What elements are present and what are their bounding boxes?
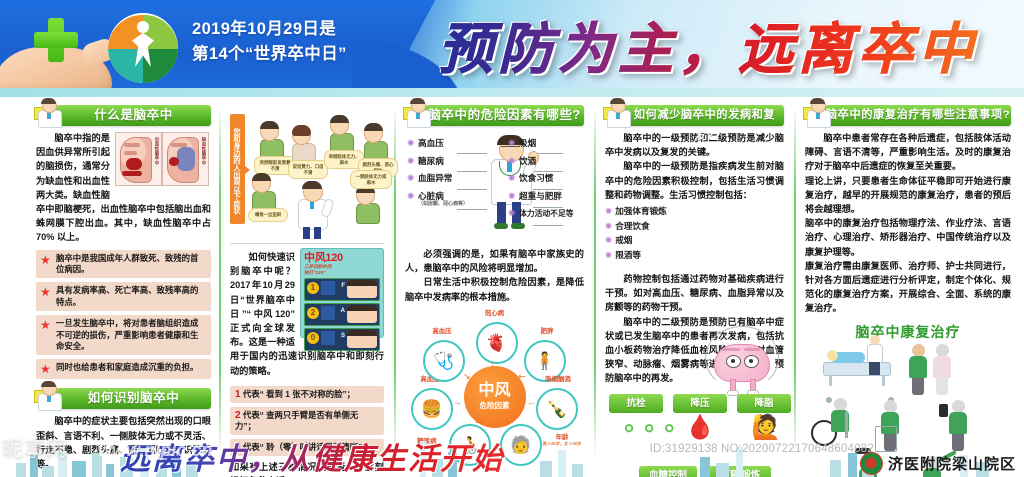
risk-factor-label: 饮酒 — [519, 156, 536, 166]
arrow-icon: ↓ — [491, 360, 496, 369]
hospital-emblem-icon — [860, 452, 883, 475]
vertical-tag-label: 您和身边的人出现以下症状 — [230, 114, 245, 224]
radial-node-hypertension: 🩺 — [423, 340, 465, 382]
flower-bullet-icon: ✺ — [407, 170, 415, 178]
card-row-letter: A — [341, 308, 345, 314]
list-number: 1 — [235, 389, 241, 400]
flower-bullet-icon: ✺ — [508, 188, 516, 196]
section-heading-label: 脑卒中的康复治疗有哪些注意事项? — [825, 105, 1011, 126]
risk-factor-label: 血脂异常 — [418, 173, 452, 183]
arrow-icon: → — [453, 398, 462, 407]
radial-node-smoking-drinking: 🍾 — [536, 388, 578, 430]
badge-lipid-lowering: 降脂 — [737, 394, 791, 413]
star-icon: ★ — [40, 254, 52, 266]
obese-person-icon: 🧍 — [534, 352, 555, 369]
risk-factor-label: 饮食习惯 — [519, 173, 553, 183]
section-heading-risk-factors: 脑卒中的危险因素有哪些? — [405, 105, 584, 126]
bottle-glass-icon: 🍾 — [546, 400, 567, 417]
section-heading-rehabilitation: 脑卒中的康复治疗有哪些注意事项? — [805, 105, 1011, 126]
column-divider — [594, 105, 596, 457]
risk-factor-diagram: ✺高血压 ✺糖尿病 ✺血脂异常 ✺心脏病 （如房颤、冠心病等） ✺吸烟 ✺饮酒 — [405, 131, 584, 247]
section-heading-reduce-stroke: 如何减少脑卒中的发病和复发? — [605, 105, 784, 126]
card-row-letter: F — [341, 283, 345, 289]
lifestyle-bullet: ✺加强体育锻炼 — [605, 204, 705, 219]
list-number: 2 — [235, 410, 241, 421]
paragraph-early-rehab: 理论上讲，只要患者生命体征平稳即可开始进行康复治疗，越早的开展规范的康复治疗，患… — [805, 174, 1011, 217]
stroke-120-card: 中风120 三步识别中风 快打“120” 1 F 2 A 0 — [300, 248, 384, 338]
risk-factor-item: ✺体力活动不足等 — [508, 205, 582, 223]
paragraph-rehab-types: 脑卒中的康复治疗包括物理疗法、作业疗法、言语治疗、心理治疗、矫形器治疗、中国传统… — [805, 216, 1011, 259]
doctor-icon — [405, 98, 431, 126]
risk-factors-left: ✺高血压 ✺糖尿病 ✺血脂异常 ✺心脏病 （如房颤、冠心病等） — [407, 135, 481, 210]
lifestyle-bullets-block: ✺加强体育锻炼 ✺合理饮食 ✺戒烟 ✺限酒等 — [605, 204, 784, 272]
symptom-person — [260, 122, 284, 160]
star-bullet-item: ★ 一旦发生脑卒中，将对患者脑组织造成不可逆的损伤，严重影响患者健康和生命安全。 — [36, 315, 211, 355]
risk-factor-item: ✺饮酒 — [508, 153, 582, 171]
radial-node-label: 吸烟酗酒 — [534, 374, 582, 383]
section-heading-what-is-stroke: 什么是脑卒中 — [36, 105, 211, 126]
risk-factor-label: 体力活动不足等 — [519, 209, 574, 218]
arrow-icon: ↘ — [463, 372, 471, 381]
header-date-line2: 第14个“世界卒中日” — [192, 42, 372, 67]
list-text: 代表“ 看到 1 张不对称的脸”； — [243, 389, 355, 399]
list-text: 代表“ 查两只手臂是否有单侧无力”； — [235, 410, 358, 431]
flower-bullet-icon: ✺ — [407, 135, 415, 143]
doctor-icon — [36, 98, 62, 126]
card-row-number: 1 — [307, 282, 319, 294]
poster-header: 2019年10月29日是 第14个“世界卒中日” 预防为主，远离卒中 — [0, 0, 1024, 97]
hospital-bed-illustration — [823, 344, 897, 388]
star-bullet-item: ★ 具有发病率高、死亡率高、致残率高的特点。 — [36, 282, 211, 311]
patient-head — [827, 350, 838, 361]
star-bullet-text: 具有发病率高、死亡率高、致残率高的特点。 — [56, 285, 206, 308]
paragraph-sequelae: 脑卒中患者常存在各种后遗症，包括肢体活动障碍、言语不清等，严重影响生活。及时的康… — [805, 131, 1011, 174]
numbered-list-item: 1 代表“ 看到 1 张不对称的脸”； — [230, 386, 384, 403]
card-row: 0 S — [304, 328, 380, 351]
doctor-icon — [805, 98, 831, 126]
symptom-person — [252, 174, 276, 212]
green-cross-icon — [34, 18, 78, 62]
star-icon: ★ — [40, 286, 52, 298]
divider — [230, 243, 384, 244]
arrow-icon: ← — [527, 398, 536, 407]
lifestyle-bullet: ✺限酒等 — [605, 248, 705, 263]
risk-factor-label: 糖尿病 — [418, 156, 444, 166]
doctor-head — [870, 335, 880, 345]
section-heading-recognize-stroke: 如何识别脑卒中 — [36, 388, 211, 409]
flower-bullet-icon: ✺ — [508, 153, 516, 161]
column-divider — [794, 105, 796, 457]
radial-center-sub: 危险因素 — [464, 401, 526, 411]
doctor-coat — [867, 344, 883, 364]
lifestyle-bullet: ✺戒烟 — [605, 233, 705, 248]
radial-node-hyperlipidemia: 🍔 — [411, 388, 453, 430]
handheld-device-icon — [939, 404, 948, 417]
paragraph-family-history: 必须强调的是，如果有脑卒中家族史的人，患脑卒中的风险将明显增加。 — [405, 247, 584, 275]
ischemic-brain-image: 缺血性脑卒中 — [162, 132, 209, 186]
radial-node-label: 高血压 — [423, 326, 461, 335]
card-row-letter: S — [341, 333, 345, 339]
nurse-assisting-illustration — [909, 344, 927, 395]
risk-factor-item: ✺饮食习惯 — [508, 170, 582, 188]
symptom-person — [356, 186, 380, 224]
flower-bullet-icon: ✺ — [605, 235, 612, 245]
star-bullet-item: ★ 脑卒中是我国成年人群致死、致残的首位病因。 — [36, 250, 211, 279]
column-divider — [219, 105, 221, 457]
brain-scan-images: 出血性脑卒中 缺血性脑卒中 — [115, 132, 211, 186]
symptom-person — [292, 126, 316, 164]
section-heading-label: 脑卒中的危险因素有哪些? — [425, 105, 584, 126]
star-bullet-text: 同时也给患者和家庭造成沉重的负担。 — [56, 362, 206, 373]
risk-factor-item: ✺超重与肥胖 — [508, 188, 582, 206]
radial-center-main: 中风 — [464, 366, 526, 401]
flower-bullet-icon: ✺ — [508, 170, 516, 178]
star-icon: ★ — [40, 363, 52, 375]
hospital-name: 济医附院梁山院区 — [888, 453, 1016, 474]
flower-bullet-icon: ✺ — [407, 153, 415, 161]
header-date-line1: 2019年10月29日是 — [192, 17, 372, 42]
radial-node-label: 肥胖 — [528, 326, 566, 335]
column-rehabilitation: 脑卒中的康复治疗有哪些注意事项? 脑卒中患者常存在各种后遗症，包括肢体活动障碍、… — [797, 97, 1019, 477]
column-recognize-stroke: 您和身边的人出现以下症状 突然眼前发黑看不清 说话费力、口齿不清 单侧肢体无力、… — [222, 97, 392, 477]
jump-rope-brain-icon — [702, 322, 780, 394]
flower-bullet-icon: ✺ — [407, 188, 415, 196]
section-heading-label: 什么是脑卒中 — [56, 105, 211, 126]
flower-bullet-icon: ✺ — [605, 250, 612, 260]
risk-factor-item: ✺心脏病 （如房颤、冠心病等） — [407, 188, 481, 209]
speech-bubble: 一侧肢体无力或麻木 — [350, 170, 392, 189]
paragraph-rehab-team: 康复治疗需由康复医师、治疗师、护士共同进行，针对各方面后遗症进行分析评定，制定个… — [805, 259, 1011, 316]
risk-factor-item: ✺高血压 — [407, 135, 481, 153]
paragraph-drug-control: 药物控制包括通过药物对基础疾病进行干预。如对高血压、糖尿病、血脂异常以及房颤等的… — [605, 272, 784, 315]
flower-bullet-icon: ✺ — [508, 205, 516, 213]
star-bullet-item: ★ 同时也给患者和家庭造成沉重的负担。 — [36, 359, 211, 379]
watermark-site-cn: 昵享网 — [2, 433, 68, 463]
world-stroke-day-logo — [108, 13, 178, 83]
doctor-icon — [605, 98, 631, 126]
card-row: 1 F — [304, 278, 380, 301]
paragraph-control-factors: 日常生活中积极控制危险因素，是降低脑卒中发病率的根本措施。 — [405, 275, 584, 303]
rehab-subtitle: 脑卒中康复治疗 — [805, 322, 1011, 342]
risk-factor-item: ✺糖尿病 — [407, 153, 481, 171]
poster-title: 预防为主，远离卒中 — [398, 12, 1018, 86]
badge-bp-lowering: 降压 — [673, 394, 727, 413]
burger-icon: 🍔 — [421, 400, 442, 417]
header-date: 2019年10月29日是 第14个“世界卒中日” — [192, 17, 372, 67]
brain-label-ischemic: 缺血性脑卒中 — [201, 137, 207, 165]
heart-icon: 🫀 — [486, 334, 507, 351]
radial-node-heart: 🫀 — [476, 322, 518, 364]
card-row-number: 0 — [307, 332, 319, 344]
patient-standing-illustration — [933, 344, 951, 395]
radial-node-label: 冠心病 — [477, 308, 513, 317]
flower-bullet-icon: ✺ — [508, 135, 516, 143]
risk-factor-label: 心脏病 — [418, 191, 444, 201]
star-bullet-text: 一旦发生脑卒中，将对患者脑组织造成不可逆的损伤，严重影响患者健康和生命安全。 — [56, 318, 206, 352]
star-icon: ★ — [40, 319, 52, 331]
speech-bubble: 说话费力、口齿不清 — [288, 160, 328, 179]
header-bottom-strip — [0, 88, 1024, 97]
badge-antithrombotic: 抗栓 — [609, 394, 663, 413]
risk-factor-label: 吸烟 — [519, 138, 536, 148]
star-bullet-text: 脑卒中是我国成年人群致死、致残的首位病因。 — [56, 253, 206, 276]
flower-bullet-icon: ✺ — [605, 206, 612, 216]
column-what-is-stroke: 什么是脑卒中 出血性脑卒中 缺血性脑卒中 脑卒中指 — [28, 97, 219, 477]
flower-bullet-icon: ✺ — [605, 221, 612, 231]
risk-factors-right: ✺吸烟 ✺饮酒 ✺饮食习惯 ✺超重与肥胖 ✺体力活动不足等 — [508, 135, 582, 223]
hospital-signature: 济医附院梁山院区 — [860, 451, 1016, 475]
paragraph-primary-prevention: 脑卒中的一级预防是指疾病发生前对脑卒中的危险因素积极控制，包括生活习惯调整和药物… — [605, 159, 784, 202]
lifestyle-bullet-label: 加强体育锻炼 — [615, 206, 667, 216]
card-title: 中风120 — [304, 252, 380, 264]
lifestyle-bullet-label: 限酒等 — [615, 250, 641, 260]
speech-bubble: 嘴角一边歪斜 — [248, 208, 288, 222]
risk-factor-item: ✺血脂异常 — [407, 170, 481, 188]
lifestyle-bullet: ✺合理饮食 — [605, 219, 705, 234]
doctor-legs — [869, 362, 880, 375]
star-bullet-list: ★ 脑卒中是我国成年人群致死、致残的首位病因。 ★ 具有发病率高、死亡率高、致残… — [36, 250, 211, 380]
risk-factor-label: 超重与肥胖 — [519, 191, 562, 201]
symptom-illustration: 您和身边的人出现以下症状 突然眼前发黑看不清 说话费力、口齿不清 单侧肢体无力、… — [230, 108, 384, 246]
lifestyle-bullet-label: 戒烟 — [615, 235, 632, 245]
symptom-person — [330, 116, 354, 154]
doctor-illustration — [292, 182, 332, 240]
column-divider — [394, 105, 396, 457]
risk-factor-item: ✺吸烟 — [508, 135, 582, 153]
hemorrhagic-brain-image: 出血性脑卒中 — [115, 132, 162, 186]
section-heading-label: 如何减少脑卒中的发病和复发? — [625, 105, 784, 147]
symptom-person — [364, 124, 388, 162]
risk-factor-note: （如房颤、冠心病等） — [418, 201, 481, 208]
risk-factor-label: 高血压 — [418, 138, 444, 148]
lifestyle-bullet-label: 合理饮食 — [615, 221, 649, 231]
doctor-icon — [36, 381, 62, 409]
card-subtitle-2: 快打“120” — [304, 270, 380, 276]
column-reduce-stroke: 如何减少脑卒中的发病和复发? 脑卒中的一级预防和二级预防是减少脑卒中发病以及复发… — [597, 97, 792, 477]
card-row-number: 2 — [307, 307, 319, 319]
card-row: 2 A — [304, 303, 380, 326]
watermark-id: ID:31929138 NO:20200722170648604082 — [650, 443, 874, 455]
blood-pressure-icon: 🩺 — [433, 352, 454, 369]
watermark-site-en: www.nipic.cn — [98, 440, 212, 461]
numbered-list-item: 2 代表“ 查两只手臂是否有单侧无力”； — [230, 407, 384, 435]
poster-root: 2019年10月29日是 第14个“世界卒中日” 预防为主，远离卒中 什么是脑卒… — [0, 0, 1024, 477]
section-heading-label: 如何识别脑卒中 — [56, 388, 211, 409]
brain-label-hemorrhagic: 出血性脑卒中 — [154, 137, 160, 165]
poster-columns: 什么是脑卒中 出血性脑卒中 缺血性脑卒中 脑卒中指 — [0, 97, 1024, 477]
column-risk-factors: 脑卒中的危险因素有哪些? ✺高血压 ✺糖尿病 ✺血脂异常 ✺心脏病 （如房颤、冠… — [397, 97, 592, 477]
